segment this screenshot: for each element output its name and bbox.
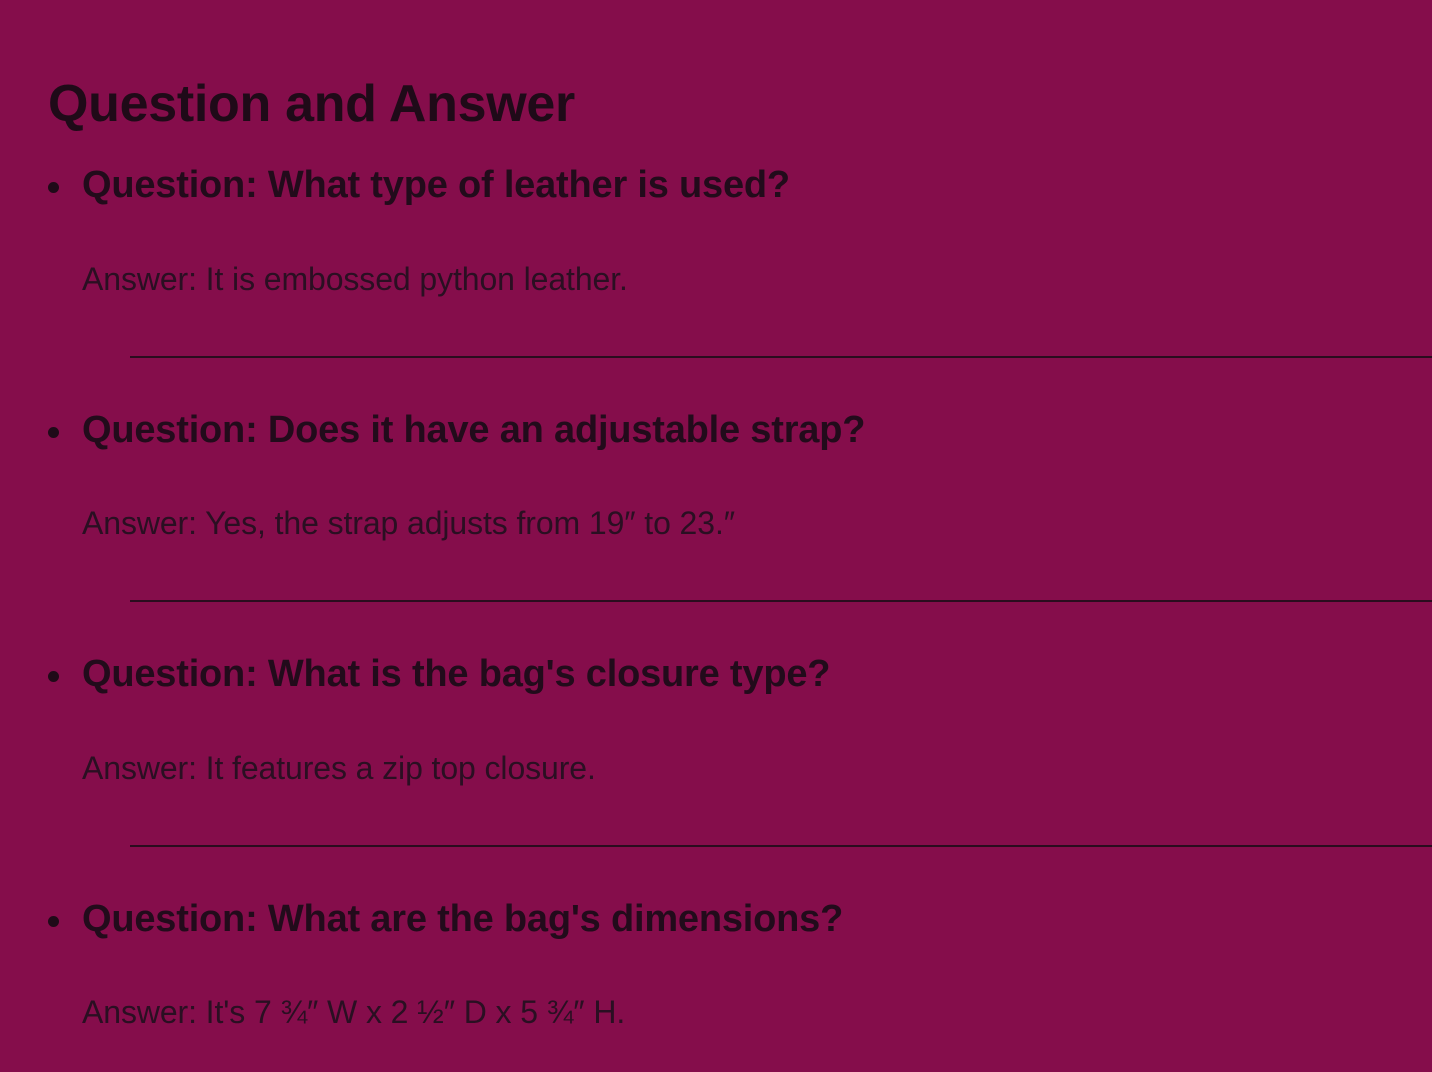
qa-question-text: Question: What are the bag's dimensions?	[82, 894, 1384, 943]
bullet-icon	[48, 182, 59, 193]
qa-answer-text: Answer: It features a zip top closure.	[82, 698, 1384, 788]
qa-question-text: Question: What is the bag's closure type…	[82, 649, 1384, 698]
qa-page: Question and Answer Question: What type …	[0, 0, 1432, 1072]
qa-list-item: Question: Does it have an adjustable str…	[0, 358, 1432, 603]
qa-question-text: Question: What type of leather is used?	[82, 160, 1384, 209]
qa-list: Question: What type of leather is used? …	[0, 160, 1432, 1032]
bullet-icon	[48, 427, 59, 438]
qa-answer-text: Answer: It's 7 ¾″ W x 2 ½″ D x 5 ¾″ H.	[82, 942, 1384, 1032]
qa-list-item: Question: What are the bag's dimensions?…	[0, 847, 1432, 1033]
qa-answer-text: Answer: It is embossed python leather.	[82, 209, 1384, 299]
bullet-icon	[48, 671, 59, 682]
qa-list-item: Question: What type of leather is used? …	[0, 160, 1432, 358]
qa-item-spacer	[82, 847, 1384, 894]
qa-item-spacer	[82, 602, 1384, 649]
bullet-icon	[48, 916, 59, 927]
qa-question-text: Question: Does it have an adjustable str…	[82, 405, 1384, 454]
page-title: Question and Answer	[48, 77, 575, 132]
qa-item-spacer	[82, 358, 1384, 405]
qa-answer-text: Answer: Yes, the strap adjusts from 19″ …	[82, 453, 1384, 543]
qa-list-item: Question: What is the bag's closure type…	[0, 602, 1432, 847]
